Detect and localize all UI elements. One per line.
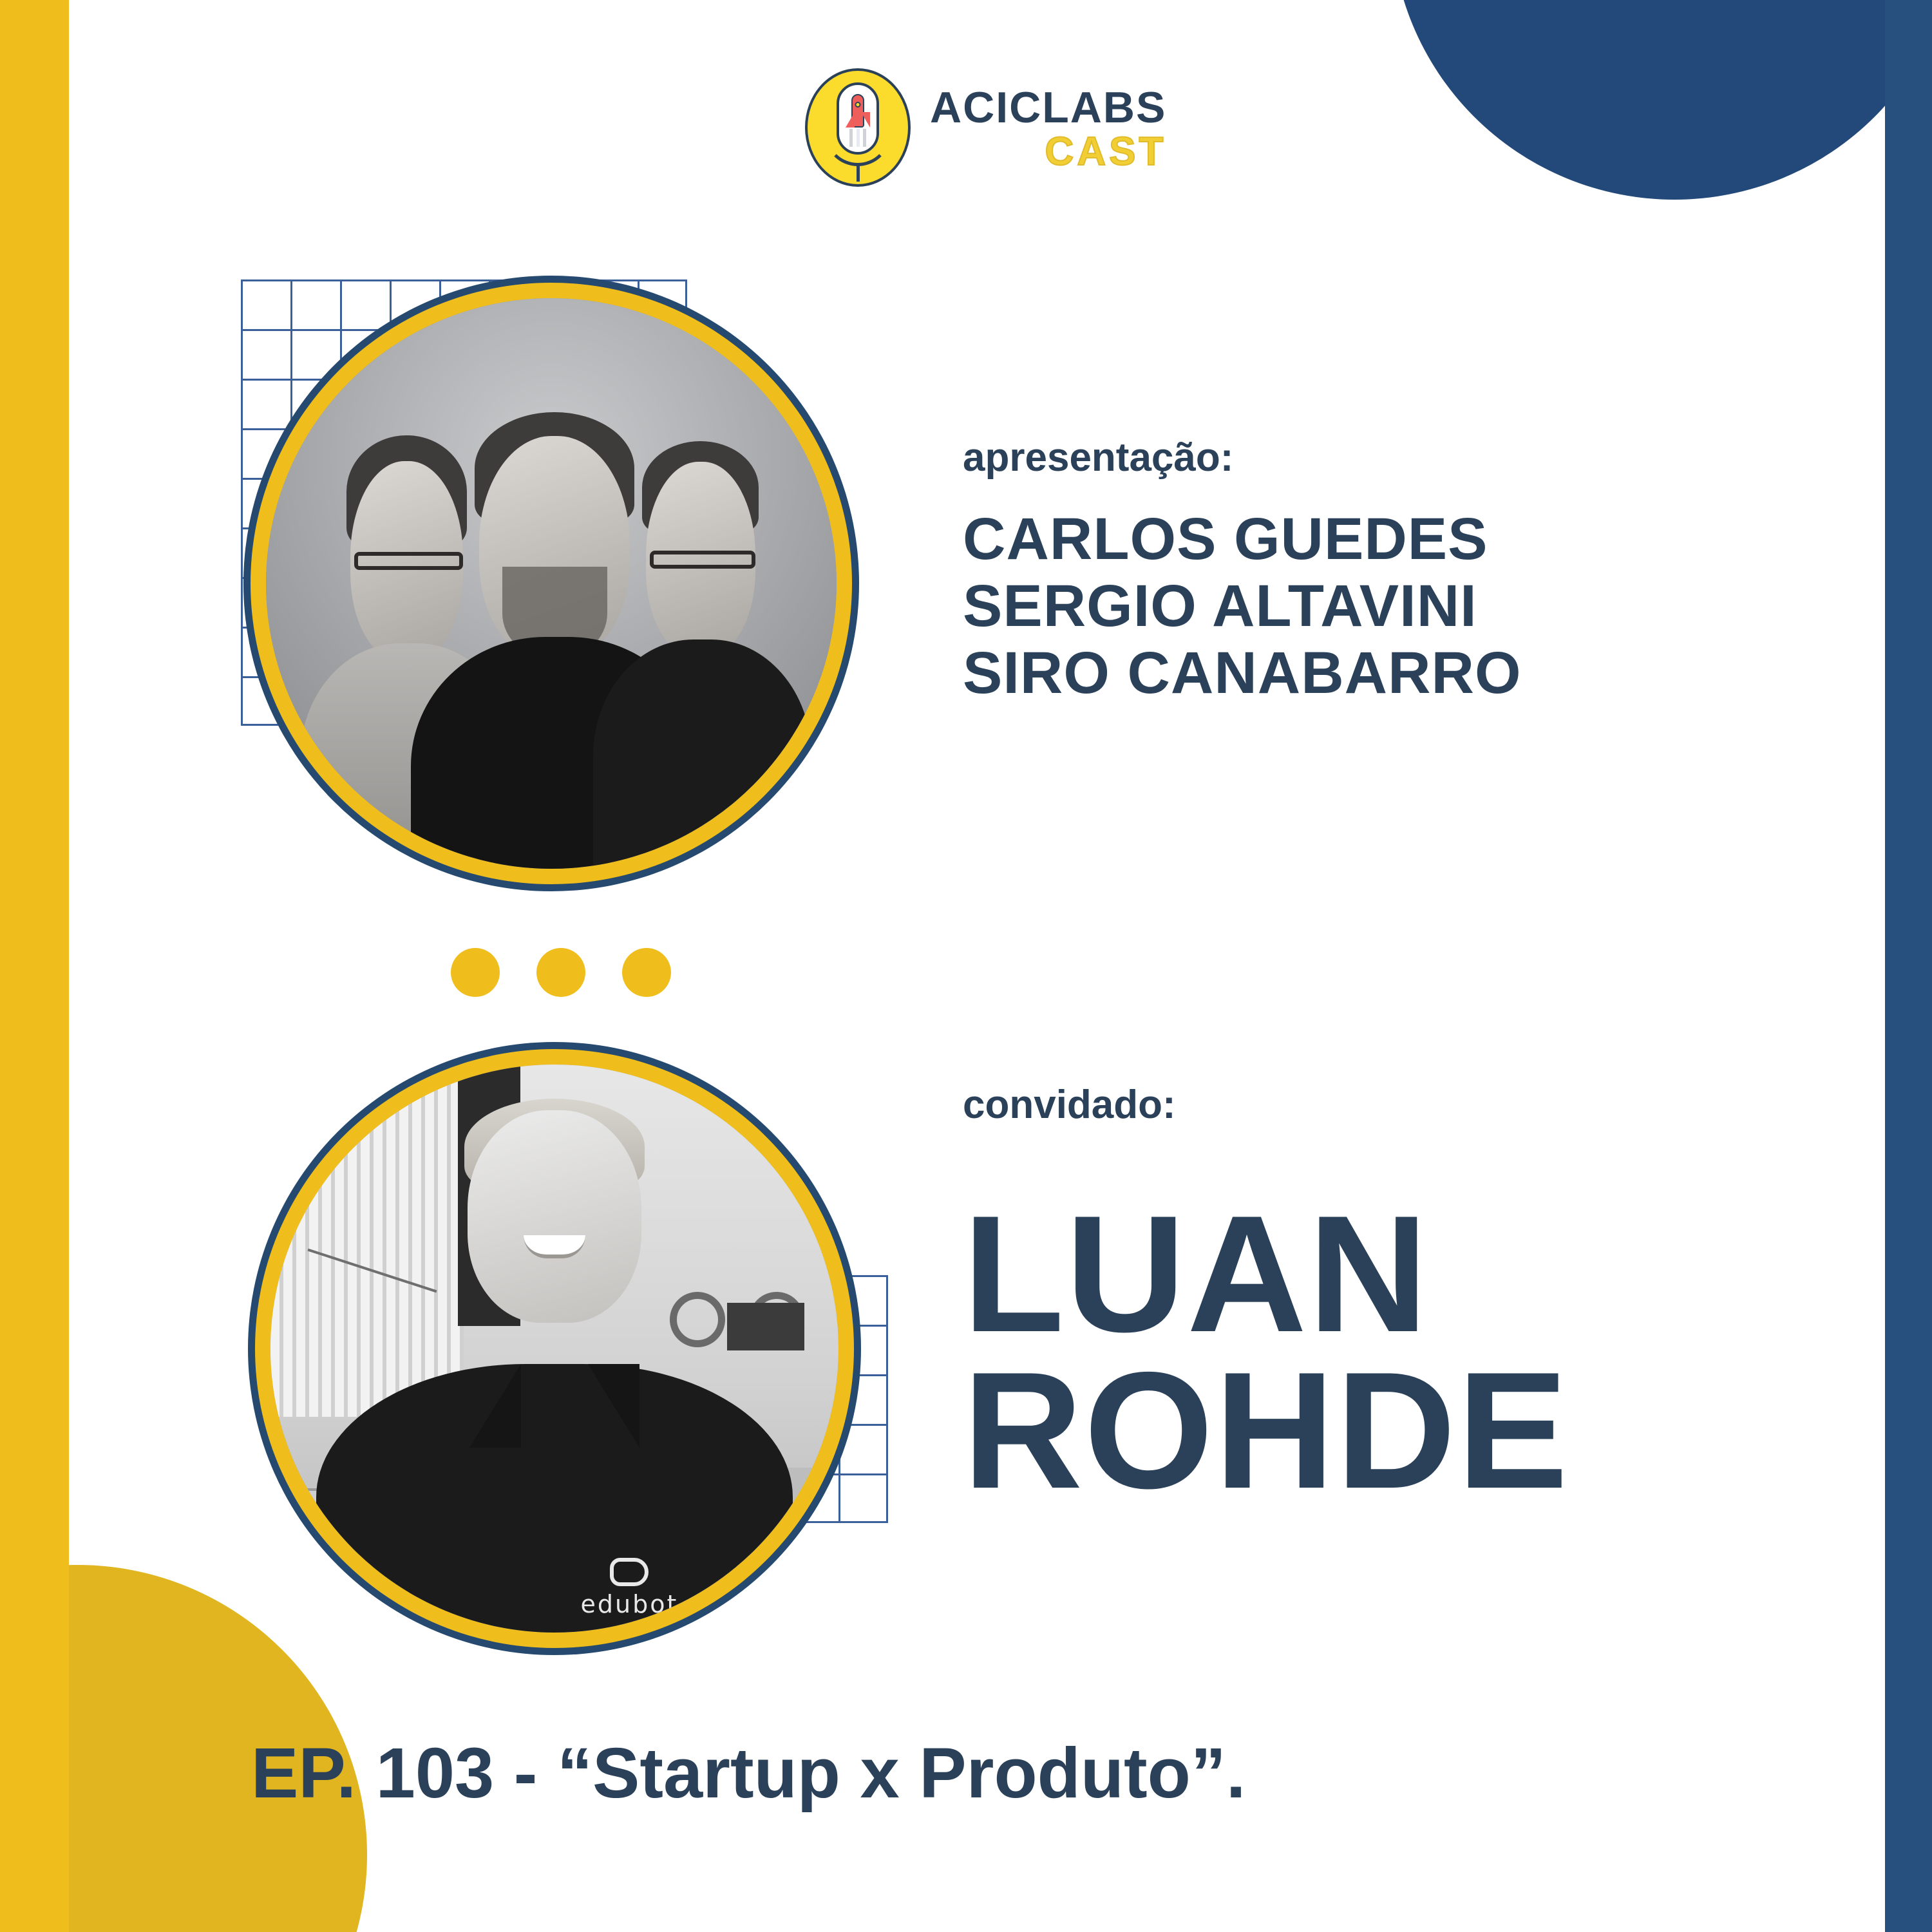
hosts-names-list: CARLOS GUEDES SERGIO ALTAVINI SIRO CANAB…	[963, 506, 1800, 707]
dots-divider	[451, 947, 708, 998]
divider-dot	[622, 948, 671, 997]
guest-name: LUAN ROHDE	[963, 1196, 1851, 1508]
hosts-photo-circle	[243, 276, 859, 891]
brand-name-secondary: CAST	[930, 132, 1166, 172]
guest-photo-circle: edubot	[248, 1042, 861, 1655]
host-name: SIRO CANABARRO	[963, 640, 1800, 707]
brand-wordmark: ACICLABS CAST	[930, 86, 1166, 172]
hosts-photo	[266, 298, 837, 869]
podcast-rocket-microphone-icon	[805, 68, 913, 189]
brand-name-primary: ACICLABS	[930, 86, 1166, 129]
host-name: CARLOS GUEDES	[963, 506, 1800, 573]
shirt-brand-logo: edubot	[581, 1558, 679, 1618]
hosts-kicker-label: apresentação:	[963, 438, 1800, 478]
guest-kicker-label: convidado:	[963, 1085, 1851, 1125]
guest-text-block: convidado: LUAN ROHDE	[963, 1085, 1851, 1508]
top-right-blue-circle-decoration	[1391, 0, 1932, 200]
guest-name-last: ROHDE	[963, 1352, 1851, 1509]
shirt-brand-label: edubot	[581, 1590, 679, 1618]
divider-dot	[451, 948, 500, 997]
hosts-text-block: apresentação: CARLOS GUEDES SERGIO ALTAV…	[963, 438, 1800, 707]
guest-photo: edubot	[270, 1065, 838, 1633]
episode-title: EP. 103 - “Startup x Produto”.	[251, 1732, 1245, 1814]
left-yellow-edge-bar	[0, 0, 69, 1932]
podcast-episode-poster: ACICLABS CAST	[0, 0, 1932, 1932]
divider-dot	[536, 948, 585, 997]
right-blue-edge-bar	[1885, 0, 1932, 1932]
guest-name-first: LUAN	[963, 1196, 1851, 1352]
host-name: SERGIO ALTAVINI	[963, 573, 1800, 640]
brand-logo: ACICLABS CAST	[805, 68, 1166, 190]
